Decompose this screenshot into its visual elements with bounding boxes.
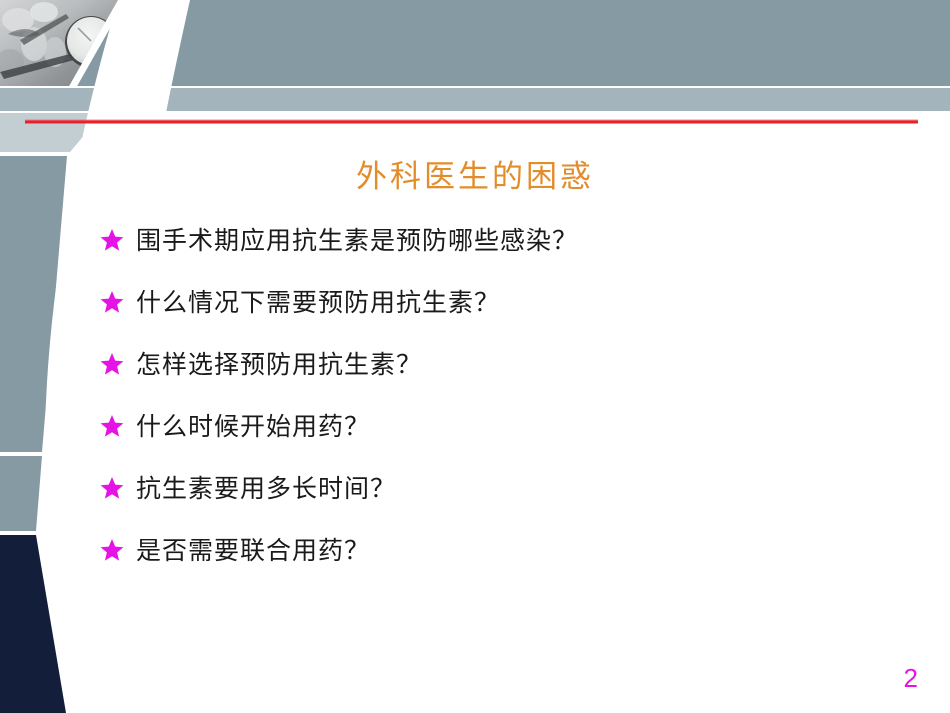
list-item-label: 什么情况下需要预防用抗生素？ (136, 290, 900, 318)
list-item: 什么时候开始用药？ (100, 414, 900, 476)
sidebar-band-short (0, 456, 42, 531)
list-item: 是否需要联合用药？ (100, 538, 900, 600)
star-icon (100, 228, 124, 254)
list-item-label: 抗生素要用多长时间？ (136, 476, 900, 504)
list-item-label: 是否需要联合用药？ (136, 538, 900, 566)
star-icon (100, 414, 124, 440)
list-item-label: 什么时候开始用药？ (136, 414, 900, 442)
star-icon (100, 352, 124, 378)
surgical-instruments-photo (0, 0, 125, 88)
slide-canvas: 外科医生的困惑 围手术期应用抗生素是预防哪些感染？ 什么情况下需要预防用抗生素？ (0, 0, 950, 713)
list-item: 围手术期应用抗生素是预防哪些感染？ (100, 228, 900, 290)
list-item: 什么情况下需要预防用抗生素？ (100, 290, 900, 352)
sidebar-band-tall (0, 156, 67, 452)
bullet-list: 围手术期应用抗生素是预防哪些感染？ 什么情况下需要预防用抗生素？ 怎样选择预防用… (100, 228, 900, 600)
star-icon (100, 290, 124, 316)
header-band-group (0, 0, 950, 111)
star-icon (100, 476, 124, 502)
header-band-dark (72, 0, 950, 86)
page-number: 2 (904, 663, 918, 693)
list-item: 怎样选择预防用抗生素？ (100, 352, 900, 414)
list-item-label: 怎样选择预防用抗生素？ (136, 352, 900, 380)
star-icon (100, 538, 124, 564)
header-band-mid (0, 88, 950, 111)
slide-title: 外科医生的困惑 (0, 157, 950, 197)
sidebar-band-navy (0, 535, 66, 713)
list-item: 抗生素要用多长时间？ (100, 476, 900, 538)
sidebar-band-light (0, 113, 103, 152)
photo-diagonal-divider (68, 0, 126, 88)
list-item-label: 围手术期应用抗生素是预防哪些感染？ (136, 228, 900, 256)
